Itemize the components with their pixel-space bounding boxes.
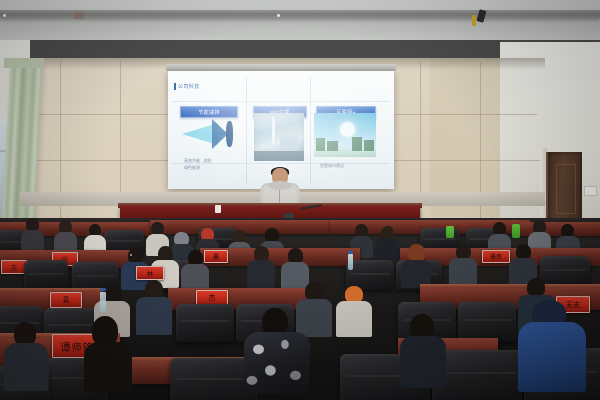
ceiling-lower-surface: [0, 18, 600, 40]
ceiling-dot: [277, 14, 280, 17]
water-bottle: [100, 292, 106, 312]
curtain-rail: [4, 58, 45, 68]
slide-caption-1b: 绿色能源: [184, 164, 200, 171]
ceiling-clip-yellow-icon: [472, 15, 476, 26]
ceiling-mark: [74, 12, 84, 19]
green-bottle: [446, 226, 454, 238]
nameplate-hidden: [130, 254, 132, 256]
light-switch-icon[interactable]: [584, 186, 597, 196]
water-bottle: [348, 254, 353, 270]
door-panel: [556, 164, 576, 214]
ceiling-rail-beam: [0, 10, 600, 18]
slide-gridline: [172, 101, 390, 102]
slide-column-divider: [310, 77, 311, 183]
projection-screen-housing: [166, 64, 396, 71]
audience-area: 宏 志 晨 雅思: [0, 218, 600, 400]
chair: [176, 304, 234, 342]
slide-title-accent-bar: [174, 83, 176, 90]
slide-photo-sky: [314, 113, 376, 157]
chair: [458, 302, 516, 342]
nameplate: 袁: [50, 292, 82, 308]
slide-photo-equipment: [254, 113, 304, 161]
water-bottle-cap: [348, 251, 353, 254]
lecture-hall-photo: 公司科技 节能减排 wip立项 互联网+ 高效节能 · 减排 绿色能源: [0, 0, 600, 400]
nameplate: 晨: [204, 250, 228, 263]
green-bottle: [512, 224, 520, 238]
chair: [24, 260, 68, 290]
ceiling-dot: [3, 14, 6, 17]
nameplate: 林: [136, 266, 164, 280]
slide-caption-3: 智慧城市建设: [320, 163, 344, 169]
presenter-hood: [268, 181, 292, 190]
cone-diagram-icon: [182, 117, 248, 151]
desk-edge: [420, 284, 600, 288]
sun-icon: [340, 122, 355, 137]
water-bottle-cap: [100, 288, 106, 291]
paper-cup: [215, 205, 221, 213]
slide-title: 公司科技: [178, 83, 200, 90]
slide-caption-1: 高效节能 · 减排: [184, 157, 212, 164]
nameplate: 雅思: [482, 250, 510, 263]
